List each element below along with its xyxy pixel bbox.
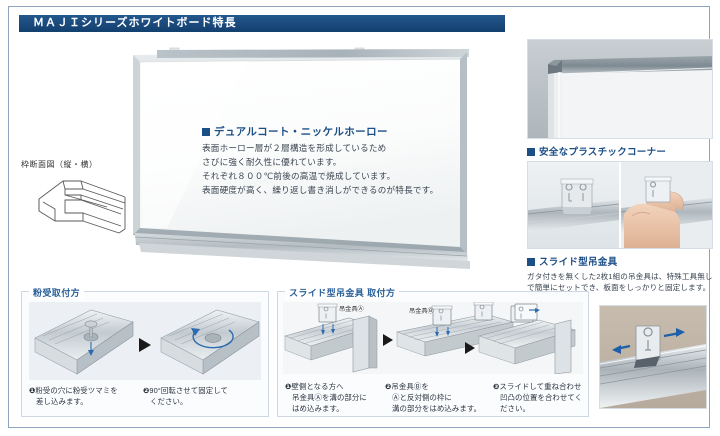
diagram-label-bracket-a: 吊金具Ⓐ [339,304,364,313]
step-item: ❷90°回転させて固定して ください。 [143,385,257,407]
slide-bracket-caption-body: ガタ付きを無くした2枚1組の吊金具は、特殊工具無しで簡単にセットでき、板面をしっ… [527,271,713,293]
panel-powder-tray-steps: ❶粉受の穴に粉受ツマミを 差し込みます。 ❷90°回転させて固定して ください。 [29,385,261,407]
whiteboard-photo: デュアルコート・ニッケルホーロー 表面ホーロー層が２層構造を形成しているため さ… [127,47,519,277]
whiteboard-line: それぞれ８００℃前後の高温で焼成しています。 [202,170,502,184]
whiteboard-line: 表面硬度が高く、繰り返し書き消しができるのが特長です。 [202,184,502,198]
frame-cross-section-diagram [21,169,133,247]
whiteboard-heading: デュアルコート・ニッケルホーロー [202,125,502,140]
plastic-corner-caption-heading: 安全なプラスチックコーナー [527,144,713,158]
bracket-slide-photo [599,305,707,409]
slide-bracket-caption-heading: スライド型吊金具 [527,254,713,268]
panel-powder-tray-title: 粉受取付方 [29,286,84,299]
square-bullet-icon [527,258,535,266]
panel-slide-bracket-title: スライド型吊金具 取付方 [285,286,399,299]
whiteboard-line: さびに強く耐久性に優れています。 [202,156,502,170]
square-bullet-icon [202,128,210,136]
step-item: ❶壁側となる方へ 吊金具Ⓐを溝の部分に はめ込みます。 [285,381,385,414]
step-item: ❸スライドして重ね合わせ 凹凸の位置を合わせてく ださい。 [493,381,585,414]
plastic-corner-photo [527,39,713,139]
right-column: 安全なプラスチックコーナー [527,39,713,293]
panel-powder-tray-figure [29,302,261,380]
page-frame: ＭＡＪＩシリーズホワイトボード特長 枠断面図（縦・横） [8,6,710,428]
whiteboard-line: 表面ホーロー層が２層構造を形成しているため [202,142,502,156]
slide-hanging-bracket-photo [527,161,713,249]
whiteboard-text-block: デュアルコート・ニッケルホーロー 表面ホーロー層が２層構造を形成しているため さ… [202,125,502,198]
square-bullet-icon [527,148,535,156]
diagram-label-bracket-b: 吊金具Ⓑ [409,306,434,315]
page-title: ＭＡＪＩシリーズホワイトボード特長 [19,15,505,32]
panel-slide-bracket-steps: ❶壁側となる方へ 吊金具Ⓐを溝の部分に はめ込みます。 ❷吊金具Ⓑを Ⓐと反対側… [285,381,585,414]
step-item: ❷吊金具Ⓑを Ⓐと反対側の枠に 溝の部分をはめ込みます。 [385,381,493,414]
step-item: ❶粉受の穴に粉受ツマミを 差し込みます。 [29,385,143,407]
